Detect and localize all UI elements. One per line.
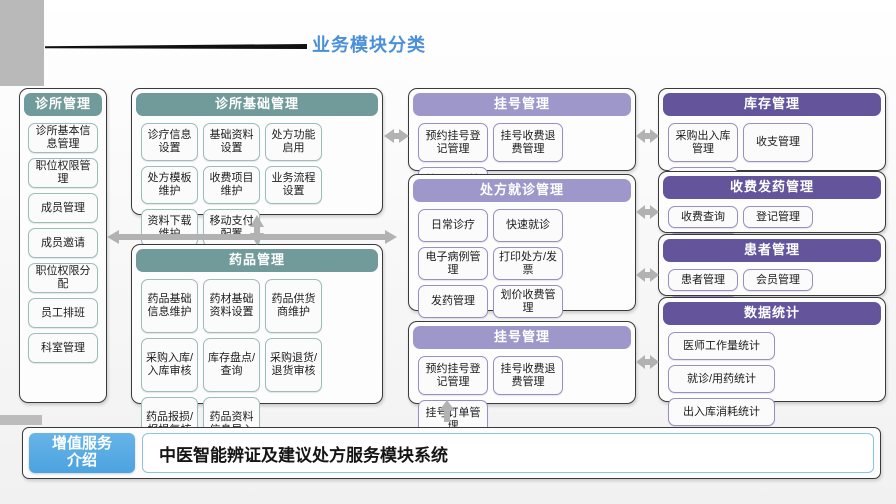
module-item[interactable]: 业务流程设置 [265, 166, 322, 204]
group-title-clinic-basic-management: 诊所基础管理 [136, 93, 378, 116]
group-panel-stock-management: 库存管理 采购出入库管理 收支管理 零售单据管理 [658, 88, 886, 171]
module-item[interactable]: 发药管理 [418, 285, 488, 318]
value-added-service-bar: 增值服务 介绍 中医智能辨证及建议处方服务模块系统 [22, 427, 881, 479]
arrow-vertical-clinic-base-to-drug-icon [248, 215, 266, 245]
group-panel-drug-management: 药品管理 药品基础信息维护 药材基础资料设置 药品供货商维护 采购入库/入库审核… [131, 244, 383, 404]
group-panel-registration-top: 挂号管理 预约挂号登记管理 挂号收费退费管理 挂号订单管理 [408, 88, 636, 171]
group-panel-patient-management: 患者管理 患者管理 会员管理 随访管理 [658, 234, 886, 296]
arrow-up-into-registration-bottom-icon [438, 400, 456, 422]
decorative-gray-block [0, 0, 44, 86]
page-title: 业务模块分类 [312, 31, 426, 57]
value-added-service-description: 中医智能辨证及建议处方服务模块系统 [142, 433, 874, 473]
module-item[interactable]: 医师工作量统计 [668, 332, 775, 360]
decorative-gray-strip [0, 415, 42, 425]
module-item[interactable]: 日常诊疗 [418, 209, 488, 242]
module-item[interactable]: 收支管理 [743, 123, 813, 162]
module-item[interactable]: 诊疗信息设置 [141, 123, 198, 161]
module-item[interactable]: 采购入库/入库审核 [141, 338, 198, 392]
module-item[interactable]: 出入库消耗统计 [668, 398, 775, 426]
arrow-horizontal-clinic-base-to-registration-icon [384, 127, 409, 145]
module-item[interactable]: 采购出入库管理 [668, 123, 738, 162]
value-added-service-tag[interactable]: 增值服务 介绍 [29, 433, 135, 473]
group-title-data-statistics: 数据统计 [663, 302, 881, 325]
module-item[interactable]: 登记管理 [743, 206, 813, 228]
module-item[interactable]: 成员邀请 [28, 228, 98, 258]
group-title-drug-management: 药品管理 [136, 249, 378, 272]
group-title-registration-top: 挂号管理 [413, 93, 631, 116]
group-panel-registration-bottom: 挂号管理 预约挂号登记管理 挂号收费退费管理 挂号订单管理 [408, 321, 636, 404]
group-title-fee-dispense-management: 收费发药管理 [663, 176, 881, 199]
group-panel-fee-dispense-management: 收费发药管理 收费查询 登记管理 处方退费 [658, 171, 886, 233]
group-title-clinic-management: 诊所管理 [24, 93, 102, 116]
group-title-prescription-visit-management: 处方就诊管理 [413, 179, 631, 202]
group-panel-data-statistics: 数据统计 医师工作量统计 就诊/用药统计 出入库消耗统计 门诊经营流水统计 [658, 297, 886, 402]
module-item[interactable]: 挂号收费退费管理 [493, 123, 563, 162]
value-tag-line2: 介绍 [67, 453, 97, 470]
module-item[interactable]: 处方模板维护 [141, 166, 198, 204]
module-item[interactable]: 成员管理 [28, 193, 98, 223]
module-item[interactable]: 患者管理 [668, 269, 738, 291]
module-item[interactable]: 药品供货商维护 [265, 279, 322, 333]
arrow-horizontal-prescription-to-fee-icon [636, 203, 659, 221]
group-title-registration-bottom: 挂号管理 [413, 326, 631, 349]
module-item[interactable]: 科室管理 [28, 333, 98, 363]
module-item[interactable]: 电子病例管理 [418, 247, 488, 280]
module-item[interactable]: 处方功能启用 [265, 123, 322, 161]
group-panel-clinic-management: 诊所管理 诊所基本信息管理 职位权限管理 成员管理 成员邀请 职位权限分配 员工… [19, 88, 107, 403]
arrow-horizontal-registration-bottom-to-stats-icon [636, 353, 659, 371]
module-item[interactable]: 会员管理 [743, 269, 813, 291]
group-title-stock-management: 库存管理 [663, 93, 881, 116]
title-underline-rule [45, 44, 307, 49]
module-item[interactable]: 收费项目维护 [203, 166, 260, 204]
module-item[interactable]: 采购退货/退货审核 [265, 338, 322, 392]
module-item[interactable]: 打印处方/发票 [493, 247, 563, 280]
module-item[interactable]: 药品基础信息维护 [141, 279, 198, 333]
group-panel-clinic-basic-management: 诊所基础管理 诊疗信息设置 基础资料设置 处方功能启用 处方模板维护 收费项目维… [131, 88, 383, 215]
module-item[interactable]: 收费查询 [668, 206, 738, 228]
module-item[interactable]: 预约挂号登记管理 [418, 356, 488, 395]
module-item[interactable]: 库存盘点/查询 [203, 338, 260, 392]
group-panel-prescription-visit-management: 处方就诊管理 日常诊疗 快速就诊 电子病例管理 打印处方/发票 发药管理 划价收… [408, 174, 636, 311]
group-title-patient-management: 患者管理 [663, 239, 881, 262]
module-item[interactable]: 诊所基本信息管理 [28, 123, 98, 153]
arrow-horizontal-registration-to-stock-icon [636, 127, 659, 145]
module-item[interactable]: 快速就诊 [493, 209, 563, 242]
module-item[interactable]: 职位权限管理 [28, 158, 98, 188]
module-item[interactable]: 预约挂号登记管理 [418, 123, 488, 162]
module-item[interactable]: 药材基础资料设置 [203, 279, 260, 333]
module-item[interactable]: 基础资料设置 [203, 123, 260, 161]
arrow-horizontal-prescription-to-patient-icon [636, 266, 659, 284]
module-item[interactable]: 职位权限分配 [28, 263, 98, 293]
module-item[interactable]: 划价收费管理 [493, 285, 563, 318]
module-item[interactable]: 就诊/用药统计 [668, 365, 775, 393]
module-item[interactable]: 员工排班 [28, 298, 98, 328]
module-item[interactable]: 挂号收费退费管理 [493, 356, 563, 395]
group-items-clinic-management: 诊所基本信息管理 职位权限管理 成员管理 成员邀请 职位权限分配 员工排班 科室… [24, 116, 102, 367]
value-tag-line1: 增值服务 [52, 436, 112, 453]
